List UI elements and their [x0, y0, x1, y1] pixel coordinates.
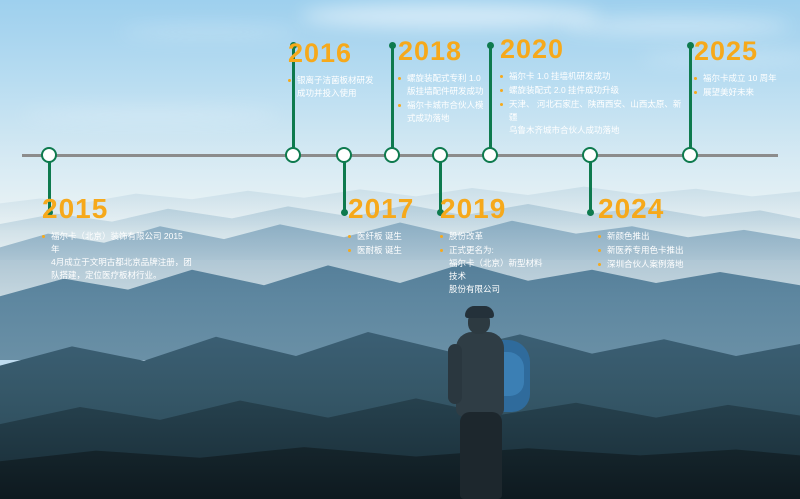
milestone-block-2018: 2018螺旋装配式专利 1.0 版挂墙配件研发成功福尔卡城市合伙人模 式成功落地 [398, 38, 490, 126]
milestone-bullet: 福尔卡成立 10 周年 [694, 72, 794, 85]
milestone-bullet: 股份改革 [440, 230, 550, 243]
timeline-node-marker-2018[interactable] [384, 147, 400, 163]
milestone-bullet: 福尔卡（北京）装饰有限公司 2015 年 4月成立于文明古都北京品牌注册，团 队… [42, 230, 192, 282]
timeline-node-marker-2025[interactable] [682, 147, 698, 163]
hiker-silhouette [430, 300, 570, 499]
milestone-year-2019: 2019 [440, 195, 550, 223]
milestone-block-2019: 2019股份改革正式更名为: 福尔卡（北京）新型材料技术 股份有限公司 [440, 195, 550, 297]
timeline-axis [22, 154, 778, 157]
milestone-bullet-list-2018: 螺旋装配式专利 1.0 版挂墙配件研发成功福尔卡城市合伙人模 式成功落地 [398, 72, 490, 125]
milestone-bullet: 福尔卡城市合伙人模 式成功落地 [398, 99, 490, 125]
milestone-block-2025: 2025福尔卡成立 10 周年展望美好未来 [694, 38, 794, 100]
milestone-bullet: 银离子洁菌板材研发 成功并投入使用 [288, 74, 384, 100]
milestone-bullet-list-2025: 福尔卡成立 10 周年展望美好未来 [694, 72, 794, 99]
milestone-year-2024: 2024 [598, 195, 718, 223]
milestone-block-2015: 2015福尔卡（北京）装饰有限公司 2015 年 4月成立于文明古都北京品牌注册… [42, 195, 192, 283]
cloud [560, 18, 790, 34]
milestone-bullet-list-2017: 医纤板 诞生医耐板 诞生 [348, 230, 428, 257]
milestone-block-2016: 2016银离子洁菌板材研发 成功并投入使用 [288, 40, 384, 101]
milestone-bullet-list-2020: 福尔卡 1.0 挂墙机研发成功螺旋装配式 2.0 挂件成功升级天津、 河北石家庄… [500, 70, 685, 137]
milestone-block-2020: 2020福尔卡 1.0 挂墙机研发成功螺旋装配式 2.0 挂件成功升级天津、 河… [500, 36, 685, 138]
milestone-year-2017: 2017 [348, 195, 428, 223]
milestone-year-2025: 2025 [694, 38, 794, 65]
timeline-stem-cap-2018 [389, 42, 396, 49]
milestone-bullet: 深圳合伙人案例落地 [598, 258, 718, 271]
milestone-bullet: 医耐板 诞生 [348, 244, 428, 257]
timeline-node-marker-2015[interactable] [41, 147, 57, 163]
timeline-stem-2018 [391, 45, 394, 155]
timeline-stem-2025 [689, 45, 692, 155]
milestone-bullet: 天津、 河北石家庄、陕西西安、山西太原、新疆 乌鲁木齐城市合伙人成功落地 [500, 98, 685, 137]
milestone-bullet-list-2015: 福尔卡（北京）装饰有限公司 2015 年 4月成立于文明古都北京品牌注册，团 队… [42, 230, 192, 282]
milestone-bullet-list-2019: 股份改革正式更名为: 福尔卡（北京）新型材料技术 股份有限公司 [440, 230, 550, 296]
milestone-year-2020: 2020 [500, 36, 685, 63]
timeline-node-marker-2024[interactable] [582, 147, 598, 163]
timeline-stem-cap-2017 [341, 209, 348, 216]
hiker-torso [456, 332, 504, 417]
timeline-stem-cap-2025 [687, 42, 694, 49]
timeline-node-marker-2019[interactable] [432, 147, 448, 163]
timeline-node-marker-2016[interactable] [285, 147, 301, 163]
hiker-cap [465, 306, 494, 318]
timeline-node-marker-2017[interactable] [336, 147, 352, 163]
milestone-bullet: 螺旋装配式专利 1.0 版挂墙配件研发成功 [398, 72, 490, 98]
hiker-legs [460, 412, 502, 499]
timeline-stem-cap-2024 [587, 209, 594, 216]
milestone-year-2016: 2016 [288, 40, 384, 67]
timeline-stem-2024 [589, 155, 592, 212]
milestone-block-2024: 2024新颜色推出新医养专用色卡推出深圳合伙人案例落地 [598, 195, 718, 272]
cloud [20, 108, 280, 122]
milestone-bullet: 新医养专用色卡推出 [598, 244, 718, 257]
cloud [120, 26, 300, 38]
milestone-bullet: 螺旋装配式 2.0 挂件成功升级 [500, 84, 685, 97]
milestone-bullet: 正式更名为: 福尔卡（北京）新型材料技术 股份有限公司 [440, 244, 550, 296]
milestone-bullet: 福尔卡 1.0 挂墙机研发成功 [500, 70, 685, 83]
hiker-arm [448, 344, 462, 404]
timeline-stem-2017 [343, 155, 346, 212]
milestone-bullet: 新颜色推出 [598, 230, 718, 243]
milestone-bullet-list-2024: 新颜色推出新医养专用色卡推出深圳合伙人案例落地 [598, 230, 718, 271]
milestone-bullet-list-2016: 银离子洁菌板材研发 成功并投入使用 [288, 74, 384, 100]
timeline-node-marker-2020[interactable] [482, 147, 498, 163]
milestone-block-2017: 2017医纤板 诞生医耐板 诞生 [348, 195, 428, 258]
timeline-infographic: 2015福尔卡（北京）装饰有限公司 2015 年 4月成立于文明古都北京品牌注册… [0, 0, 800, 499]
milestone-year-2015: 2015 [42, 195, 192, 223]
milestone-bullet: 医纤板 诞生 [348, 230, 428, 243]
milestone-bullet: 展望美好未来 [694, 86, 794, 99]
milestone-year-2018: 2018 [398, 38, 490, 65]
cloud [300, 4, 600, 28]
